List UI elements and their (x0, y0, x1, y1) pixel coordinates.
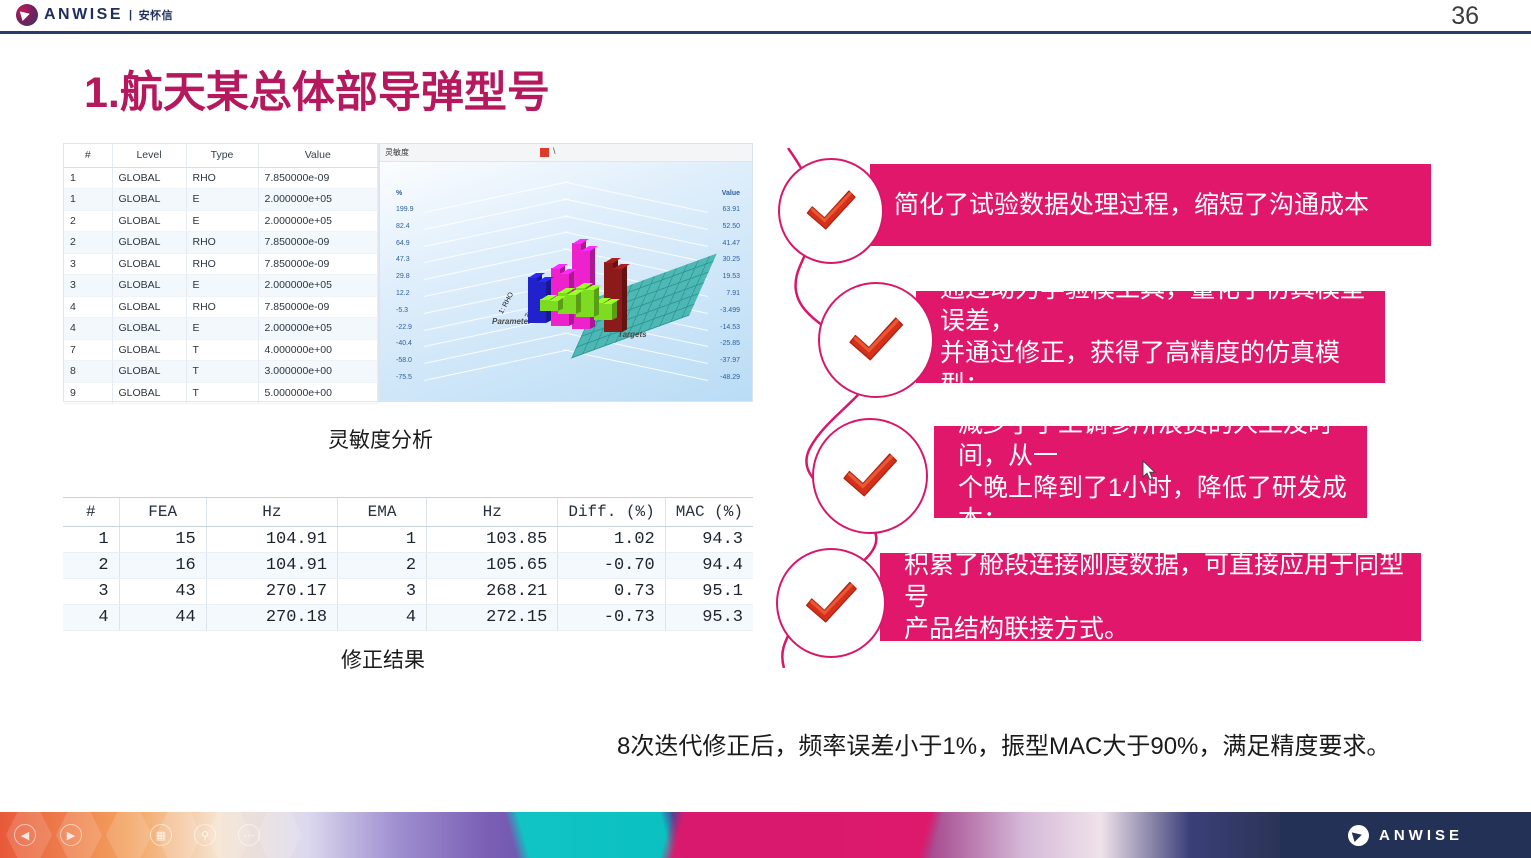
table-cell: GLOBAL (112, 275, 186, 297)
chart-gridline (424, 198, 569, 230)
table-cell: T (186, 382, 258, 404)
left-axis-tick: -75.5 (396, 374, 412, 381)
footer-logo: ANWISE (1280, 812, 1531, 858)
table-cell: 3 (64, 253, 112, 275)
table-cell: E (186, 210, 258, 232)
chart-gridline (563, 198, 708, 230)
table-cell: 0.73 (558, 578, 665, 604)
axis-label-parameter: Parameter (492, 317, 531, 326)
col-header-fea-hz: Hz (206, 498, 337, 526)
table-cell: GLOBAL (112, 339, 186, 361)
chart-gridline (424, 332, 569, 364)
table-cell: E (186, 318, 258, 340)
table-row[interactable]: 1GLOBALE2.000000e+05 (64, 189, 378, 211)
table-cell: 4 (338, 604, 427, 630)
table-cell: 2 (64, 210, 112, 232)
right-axis-tick: 19.53 (722, 273, 740, 280)
chart-window-titlebar: 灵敏度 \ (380, 144, 752, 162)
table-row[interactable]: 4GLOBALRHO7.850000e-09 (64, 296, 378, 318)
chart-gridline (424, 215, 569, 247)
table-cell: 105.65 (427, 552, 558, 578)
table-cell: -0.73 (558, 604, 665, 630)
col-header-index: # (63, 498, 119, 526)
table-cell: 7.850000e-09 (258, 167, 378, 189)
table-cell: RHO (186, 253, 258, 275)
anwise-swoosh-logo-icon (1348, 825, 1369, 846)
header-logo-cn-text: 安怀信 (139, 7, 174, 23)
table-row[interactable]: 2GLOBALRHO7.850000e-09 (64, 232, 378, 254)
sensitivity-table: # Level Type Value 1GLOBALRHO7.850000e-0… (64, 144, 378, 404)
header-logo: ANWISE | 安怀信 (16, 4, 173, 26)
table-cell: 7.850000e-09 (258, 296, 378, 318)
left-axis-tick: 29.8 (396, 273, 410, 280)
table-cell: GLOBAL (112, 382, 186, 404)
table-cell: 1 (64, 167, 112, 189)
table-cell: GLOBAL (112, 232, 186, 254)
check-mark-icon (842, 306, 909, 373)
sensitivity-table-panel: # Level Type Value 1GLOBALRHO7.850000e-0… (63, 143, 379, 402)
table-cell: GLOBAL (112, 318, 186, 340)
right-axis-tick: 63.91 (722, 206, 740, 213)
table-cell: 95.3 (665, 604, 753, 630)
table-cell: 4 (63, 604, 119, 630)
col-header-type: Type (186, 144, 258, 167)
table-cell: 272.15 (427, 604, 558, 630)
table-cell: 44 (119, 604, 206, 630)
table-cell: E (186, 189, 258, 211)
chart-bar (585, 289, 594, 317)
table-cell: 7 (64, 339, 112, 361)
page-title: 1.航天某总体部导弹型号 (84, 58, 550, 120)
callout-text: 简化了试验数据处理过程，缩短了沟通成本 (894, 189, 1369, 221)
table-cell: 9 (64, 382, 112, 404)
callout-text: 积累了舱段连接刚度数据，可直接应用于同型号产品结构联接方式。 (904, 549, 1421, 645)
chart-plot-area: % Value 199.982.464.947.329.812.2-5.3-22… (380, 162, 752, 402)
left-axis-tick: 64.9 (396, 240, 410, 247)
table-caption: 修正结果 (341, 644, 425, 674)
chart-bar (604, 262, 613, 332)
table-cell: T (186, 339, 258, 361)
table-cell: T (186, 361, 258, 383)
more-icon[interactable]: ⋯ (238, 824, 260, 846)
callout-box[interactable]: 积累了舱段连接刚度数据，可直接应用于同型号产品结构联接方式。 (880, 553, 1421, 641)
right-axis-tick: 30.25 (722, 256, 740, 263)
right-axis-tick: 52.50 (722, 223, 740, 230)
table-row[interactable]: 7GLOBALT4.000000e+00 (64, 339, 378, 361)
chart-tab-label: \ (553, 146, 556, 156)
table-cell: 1 (64, 189, 112, 211)
chart-gridline (563, 181, 708, 213)
footer-logo-text: ANWISE (1379, 827, 1463, 844)
table-cell: GLOBAL (112, 361, 186, 383)
table-cell: 2 (63, 552, 119, 578)
mouse-cursor-icon (1142, 460, 1158, 482)
table-cell: 3 (63, 578, 119, 604)
table-cell: 2 (64, 232, 112, 254)
table-cell: 104.91 (206, 526, 337, 552)
table-cell: 2.000000e+05 (258, 189, 378, 211)
table-cell: 95.1 (665, 578, 753, 604)
table-cell: 15 (119, 526, 206, 552)
prev-icon[interactable]: ◀ (14, 824, 36, 846)
left-axis-tick: -40.4 (396, 340, 412, 347)
slides-icon[interactable]: ▦ (150, 824, 172, 846)
right-axis-tick: -25.85 (720, 340, 740, 347)
table-cell: 103.85 (427, 526, 558, 552)
table-cell: 4.000000e+00 (258, 339, 378, 361)
callout-check-circle (818, 282, 934, 398)
callout-box[interactable]: 通过动力学验模工具，量化了仿真模型误差，并通过修正，获得了高精度的仿真模型； (916, 291, 1385, 383)
table-header-row: # FEA Hz EMA Hz Diff. (%) MAC (%) (63, 498, 753, 526)
left-axis-tick: 47.3 (396, 256, 410, 263)
anwise-swoosh-logo-icon (16, 4, 38, 26)
search-icon[interactable]: ⚲ (194, 824, 216, 846)
callout-text: 减少了手工调参所浪费的人工及时间，从一个晚上降到了1小时，降低了研发成本； (958, 408, 1367, 536)
table-cell: 2 (338, 552, 427, 578)
right-axis-tick: -48.29 (720, 374, 740, 381)
callout-check-circle (776, 548, 886, 658)
correlation-table-panel: # FEA Hz EMA Hz Diff. (%) MAC (%) 115104… (63, 497, 753, 627)
table-cell: 94.3 (665, 526, 753, 552)
left-axis-tick: 82.4 (396, 223, 410, 230)
col-header-ema-hz: Hz (427, 498, 558, 526)
table-cell: 2.000000e+05 (258, 318, 378, 340)
table-cell: 1.02 (558, 526, 665, 552)
red-square-icon[interactable] (540, 148, 549, 157)
table-cell: 270.17 (206, 578, 337, 604)
table-cell: 104.91 (206, 552, 337, 578)
right-axis-tick: -14.53 (720, 324, 740, 331)
table-row[interactable]: 343270.173268.210.7395.1 (63, 578, 753, 604)
header-logo-divider: | (129, 9, 133, 21)
table-row[interactable]: 1GLOBALRHO7.850000e-09 (64, 167, 378, 189)
left-axis-tick: -22.9 (396, 324, 412, 331)
left-axis-tick: -5.3 (396, 307, 408, 314)
table-row[interactable]: 8GLOBALT3.000000e+00 (64, 361, 378, 383)
col-header-ema: EMA (338, 498, 427, 526)
col-header-fea: FEA (119, 498, 206, 526)
col-header-value: Value (258, 144, 378, 167)
sensitivity-3d-chart-panel[interactable]: 灵敏度 \ % Value 199.982.464.947.329.812.2-… (379, 143, 753, 402)
table-cell: RHO (186, 167, 258, 189)
callout-check-circle (812, 418, 928, 534)
check-mark-icon (836, 442, 903, 509)
table-cell: 2.000000e+05 (258, 210, 378, 232)
table-cell: 7.850000e-09 (258, 253, 378, 275)
table-row[interactable]: 4GLOBALE2.000000e+05 (64, 318, 378, 340)
table-cell: 270.18 (206, 604, 337, 630)
chart-bar (528, 277, 537, 323)
left-axis-tick: 12.2 (396, 290, 410, 297)
table-cell: 2.000000e+05 (258, 275, 378, 297)
table-cell: 4 (64, 318, 112, 340)
callout-check-circle (778, 158, 884, 264)
table-row[interactable]: 216104.912105.65-0.7094.4 (63, 552, 753, 578)
table-row[interactable]: 3GLOBALRHO7.850000e-09 (64, 253, 378, 275)
table-cell: 3 (338, 578, 427, 604)
table-row[interactable]: 444270.184272.15-0.7395.3 (63, 604, 753, 630)
table-cell: 3 (64, 275, 112, 297)
table-cell: 7.850000e-09 (258, 232, 378, 254)
chart-caption: 灵敏度分析 (328, 424, 433, 454)
check-mark-icon (800, 180, 861, 241)
table-cell: 4 (64, 296, 112, 318)
col-header-index: # (64, 144, 112, 167)
col-header-diff: Diff. (%) (558, 498, 665, 526)
table-cell: 3.000000e+00 (258, 361, 378, 383)
col-header-level: Level (112, 144, 186, 167)
header-logo-text: ANWISE (44, 6, 123, 24)
table-cell: GLOBAL (112, 189, 186, 211)
footer-decoration: ◀ ▶ ▦ ⚲ ⋯ (0, 812, 1280, 858)
table-cell: -0.70 (558, 552, 665, 578)
header-divider (0, 31, 1531, 34)
correlation-table: # FEA Hz EMA Hz Diff. (%) MAC (%) 115104… (63, 498, 753, 631)
slide-header: ANWISE | 安怀信 36 (0, 0, 1531, 31)
right-axis-tick: -3.499 (720, 307, 740, 314)
slide-footer: ◀ ▶ ▦ ⚲ ⋯ ANWISE (0, 812, 1531, 858)
chart-gridline (563, 349, 708, 381)
table-cell: 5.000000e+00 (258, 382, 378, 404)
table-row[interactable]: 3GLOBALE2.000000e+05 (64, 275, 378, 297)
table-cell: GLOBAL (112, 253, 186, 275)
chart-bar (603, 303, 612, 320)
chart-gridline (424, 248, 569, 280)
table-cell: RHO (186, 232, 258, 254)
table-cell: 94.4 (665, 552, 753, 578)
check-mark-icon (799, 571, 863, 635)
right-axis-tick: 41.47 (722, 240, 740, 247)
slide-root: ANWISE | 安怀信 36 1.航天某总体部导弹型号 # Level Typ… (0, 0, 1531, 858)
table-cell: 16 (119, 552, 206, 578)
chart-gridline (424, 232, 569, 264)
play-icon[interactable]: ▶ (60, 824, 82, 846)
table-row[interactable]: 9GLOBALT5.000000e+00 (64, 382, 378, 404)
right-axis-tick: -37.97 (720, 357, 740, 364)
table-cell: GLOBAL (112, 210, 186, 232)
table-cell: RHO (186, 296, 258, 318)
chart-gridline (424, 349, 569, 381)
callout-list: 简化了试验数据处理过程，缩短了沟通成本通过动力学验模工具，量化了仿真模型误差，并… (770, 148, 1531, 668)
page-number: 36 (1451, 2, 1479, 31)
col-header-mac: MAC (%) (665, 498, 753, 526)
table-cell: E (186, 275, 258, 297)
table-cell: 1 (63, 526, 119, 552)
table-row[interactable]: 115104.911103.851.0294.3 (63, 526, 753, 552)
table-cell: 1 (338, 526, 427, 552)
table-cell: GLOBAL (112, 296, 186, 318)
table-header-row: # Level Type Value (64, 144, 378, 167)
chart-bar (567, 294, 576, 314)
right-axis-tick: 7.91 (726, 290, 740, 297)
left-axis-unit: % (396, 190, 402, 197)
table-cell: 43 (119, 578, 206, 604)
left-axis-tick: 199.9 (396, 206, 414, 213)
chart-window-title: 灵敏度 (385, 147, 409, 158)
callout-text: 通过动力学验模工具，量化了仿真模型误差，并通过修正，获得了高精度的仿真模型； (940, 273, 1385, 401)
table-row[interactable]: 2GLOBALE2.000000e+05 (64, 210, 378, 232)
chart-gridline (424, 181, 569, 213)
table-cell: 268.21 (427, 578, 558, 604)
left-axis-tick: -58.0 (396, 357, 412, 364)
conclusion-text: 8次迭代修正后，频率误差小于1%，振型MAC大于90%，满足精度要求。 (617, 726, 1390, 761)
callout-box[interactable]: 简化了试验数据处理过程，缩短了沟通成本 (870, 164, 1431, 246)
table-cell: GLOBAL (112, 167, 186, 189)
chart-bar (549, 300, 558, 311)
table-cell: 8 (64, 361, 112, 383)
right-axis-unit: Value (722, 190, 740, 197)
